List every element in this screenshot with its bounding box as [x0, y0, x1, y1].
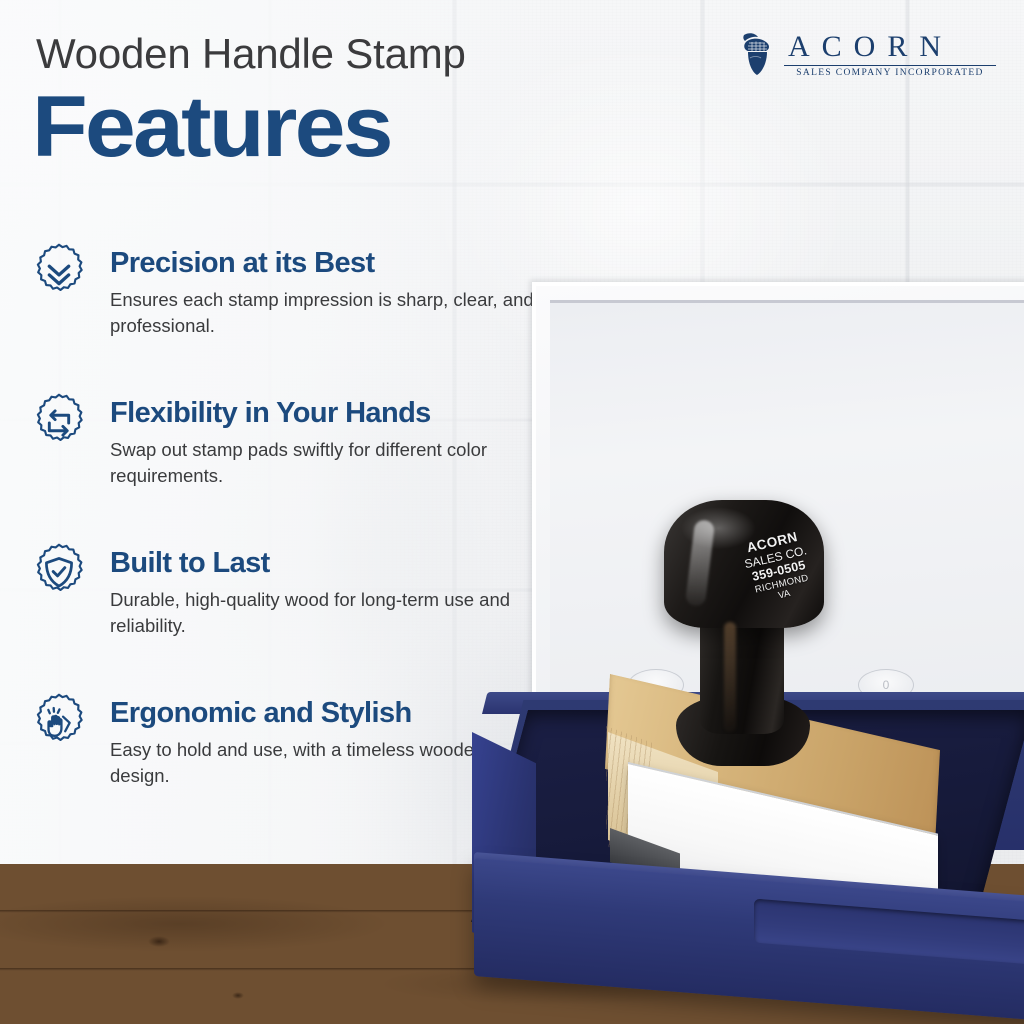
brand-logo-text: ACORN SALES COMPANY INCORPORATED	[784, 32, 996, 79]
swap-arrows-badge-icon	[28, 392, 90, 454]
acorn-icon	[736, 32, 776, 78]
brand-name: ACORN	[784, 32, 996, 62]
infographic-canvas: Wooden Handle Stamp Features ACORN SALES…	[0, 0, 1024, 1024]
hand-tap-badge-icon	[28, 692, 90, 754]
product-photo: 0 ACORN SALES CO. 359-0505 RICHMOND VA	[432, 262, 1024, 1024]
wood-knot	[232, 992, 244, 999]
brand-divider	[784, 65, 996, 66]
brand-logo[interactable]: ACORN SALES COMPANY INCORPORATED	[736, 32, 996, 79]
wood-knot	[148, 936, 170, 947]
brand-tagline: SALES COMPANY INCORPORATED	[784, 69, 996, 79]
page-subtitle: Wooden Handle Stamp	[36, 30, 466, 78]
shield-check-badge-icon	[28, 542, 90, 604]
stamp-handle-highlight	[724, 622, 736, 732]
page-title: Features	[32, 78, 391, 177]
double-chevron-down-badge-icon	[28, 242, 90, 304]
lid-emboss-glyph: 0	[883, 678, 890, 692]
